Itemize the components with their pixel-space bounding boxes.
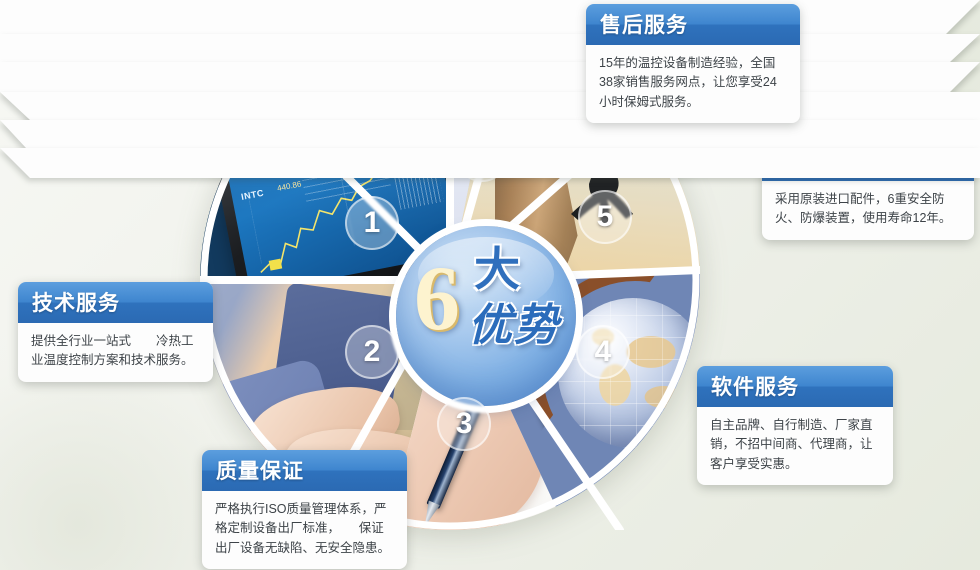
callout-card-quality[interactable]: 质量保证 严格执行ISO质量管理体系，严格定制设备出厂标准， 保证出厂设备无缺陷…: [202, 450, 407, 569]
segment-number-5[interactable]: 5: [578, 190, 632, 244]
card-body-software: 自主品牌、自行制造、厂家直销，不招中间商、代理商，让客户享受实惠。: [697, 407, 893, 485]
tablet-price-label: 440.86: [276, 179, 302, 193]
segment-number-3[interactable]: 3: [437, 397, 491, 451]
callout-tail-team: [0, 0, 980, 34]
card-body-hardware: 采用原装进口配件，6重安全防火、防爆装置，使用寿命12年。: [762, 181, 974, 240]
callout-card-software[interactable]: 软件服务 自主品牌、自行制造、厂家直销，不招中间商、代理商，让客户享受实惠。: [697, 366, 893, 485]
globe-landmasses: [558, 298, 700, 448]
center-badge[interactable]: 6 大 优势: [396, 226, 576, 406]
card-title-after-sales: 售后服务: [586, 4, 800, 45]
segment-number-1[interactable]: 1: [345, 196, 399, 250]
callout-tail-software: [0, 92, 980, 120]
card-body-tech: 提供全行业一站式 冷热工业温度控制方案和技术服务。: [18, 323, 213, 382]
center-unit: 大: [474, 246, 520, 292]
callout-tail-hardware: [0, 120, 980, 148]
card-body-after-sales: 15年的温控设备制造经验，全国38家销售服务网点，让您享受24小时保姆式服务。: [586, 45, 800, 123]
callout-tail-tech: [0, 34, 980, 62]
center-number: 6: [414, 252, 460, 344]
globe-gridlines: [558, 298, 700, 448]
callout-card-after-sales[interactable]: 售后服务 15年的温控设备制造经验，全国38家销售服务网点，让您享受24小时保姆…: [586, 4, 800, 123]
card-body-quality: 严格执行ISO质量管理体系，严格定制设备出厂标准， 保证出厂设备无缺陷、无安全隐…: [202, 491, 407, 569]
callout-card-tech[interactable]: 技术服务 提供全行业一站式 冷热工业温度控制方案和技术服务。: [18, 282, 213, 382]
center-word: 优势: [468, 304, 560, 348]
tablet-brand-label: INTC: [240, 188, 264, 202]
callout-tail-quality: [0, 62, 980, 92]
segment-number-4[interactable]: 4: [576, 325, 630, 379]
card-title-quality: 质量保证: [202, 450, 407, 491]
card-title-software: 软件服务: [697, 366, 893, 407]
segment-number-2[interactable]: 2: [345, 325, 399, 379]
infographic-canvas: STOCK MARKET DATA INTC 440.86: [0, 0, 980, 570]
world-globe: [558, 298, 700, 448]
callout-tail-after-sales: [0, 148, 980, 178]
card-title-tech: 技术服务: [18, 282, 213, 323]
